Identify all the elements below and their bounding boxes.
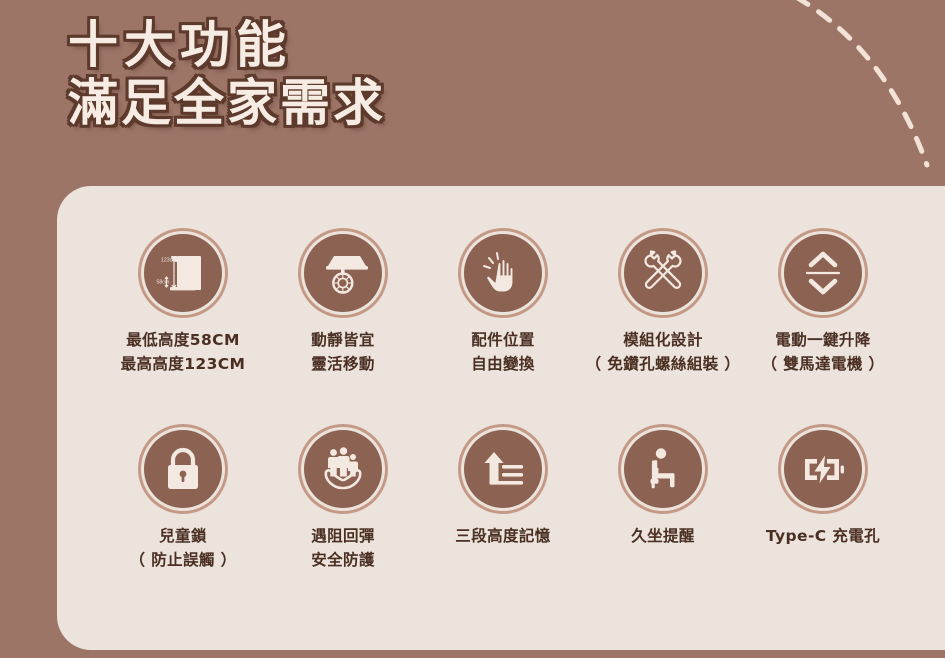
feature-label: 配件位置 自由變換 (471, 328, 535, 376)
feature-label-line1: 電動一鍵升降 (775, 331, 870, 349)
feature-label-line2: 靈活移動 (311, 352, 375, 376)
feature-label-line2: 自由變換 (471, 352, 535, 376)
feature-label-line1: 三段高度記憶 (455, 527, 550, 545)
feature-label: Type-C 充電孔 (766, 524, 880, 548)
feature-item-typec-port: Type-C 充電孔 (743, 430, 903, 548)
feature-item-child-lock: 兒童鎖 （ 防止誤觸 ） (103, 430, 263, 572)
feature-label: 兒童鎖 （ 防止誤觸 ） (130, 524, 237, 572)
feature-item-height-range: 123cm 58cm 最低高度58CM 最高高度123CM (103, 234, 263, 376)
features-row-1: 123cm 58cm 最低高度58CM 最高高度123CM (57, 234, 945, 376)
feature-label: 三段高度記憶 (455, 524, 550, 548)
title-line-1: 十大功能 (68, 18, 386, 72)
feature-label-line2: （ 雙馬達電機 ） (762, 352, 885, 376)
title-line-2: 滿足全家需求 (68, 76, 386, 130)
feature-label-line2: （ 防止誤觸 ） (130, 548, 237, 572)
feature-label-line1: 遇阻回彈 (311, 527, 375, 545)
dashed-curve-icon (665, 0, 945, 170)
features-row-2: 兒童鎖 （ 防止誤觸 ） (57, 430, 945, 572)
desk-height-range-icon: 123cm 58cm (144, 234, 222, 312)
padlock-icon (144, 430, 222, 508)
feature-item-anti-collision: 遇阻回彈 安全防護 (263, 430, 423, 572)
feature-item-accessory-position: 配件位置 自由變換 (423, 234, 583, 376)
feature-label: 久坐提醒 (631, 524, 695, 548)
promo-poster: 十大功能 滿足全家需求 (0, 0, 945, 658)
feature-label: 最低高度58CM 最高高度123CM (121, 328, 246, 376)
feature-item-sitting-reminder: 久坐提醒 (583, 430, 743, 548)
feature-label-line1: 模組化設計 (623, 331, 703, 349)
seated-person-icon (624, 430, 702, 508)
svg-text:123cm: 123cm (161, 258, 177, 264)
features-grid: 123cm 58cm 最低高度58CM 最高高度123CM (57, 186, 945, 650)
feature-label: 動靜皆宜 靈活移動 (311, 328, 375, 376)
feature-label: 電動一鍵升降 （ 雙馬達電機 ） (762, 328, 885, 376)
feature-label-line2: 最高高度123CM (121, 352, 246, 376)
up-down-arrows-icon (784, 234, 862, 312)
feature-label-line1: 兒童鎖 (159, 527, 207, 545)
desk-caster-wheel-icon (304, 234, 382, 312)
feature-label-line1: Type-C 充電孔 (766, 527, 880, 545)
feature-label-line1: 配件位置 (471, 331, 535, 349)
feature-label-line1: 最低高度58CM (126, 331, 240, 349)
height-memory-levels-icon (464, 430, 542, 508)
feature-label-line1: 動靜皆宜 (311, 331, 375, 349)
feature-item-modular-design: 模組化設計 （ 免鑽孔螺絲組裝 ） (583, 234, 743, 376)
click-hand-icon (464, 234, 542, 312)
page-title: 十大功能 滿足全家需求 (68, 18, 386, 130)
feature-label: 模組化設計 （ 免鑽孔螺絲組裝 ） (586, 328, 741, 376)
feature-item-mobility: 動靜皆宜 靈活移動 (263, 234, 423, 376)
svg-text:58cm: 58cm (157, 280, 170, 286)
feature-label-line2: 安全防護 (311, 548, 375, 572)
features-card: 123cm 58cm 最低高度58CM 最高高度123CM (57, 186, 945, 650)
family-in-hands-icon (304, 430, 382, 508)
wrench-screwdriver-icon (624, 234, 702, 312)
feature-item-height-memory: 三段高度記憶 (423, 430, 583, 548)
battery-charging-icon (784, 430, 862, 508)
feature-item-electric-lift: 電動一鍵升降 （ 雙馬達電機 ） (743, 234, 903, 376)
feature-label-line2: （ 免鑽孔螺絲組裝 ） (586, 352, 741, 376)
feature-label-line1: 久坐提醒 (631, 527, 695, 545)
feature-label: 遇阻回彈 安全防護 (311, 524, 375, 572)
